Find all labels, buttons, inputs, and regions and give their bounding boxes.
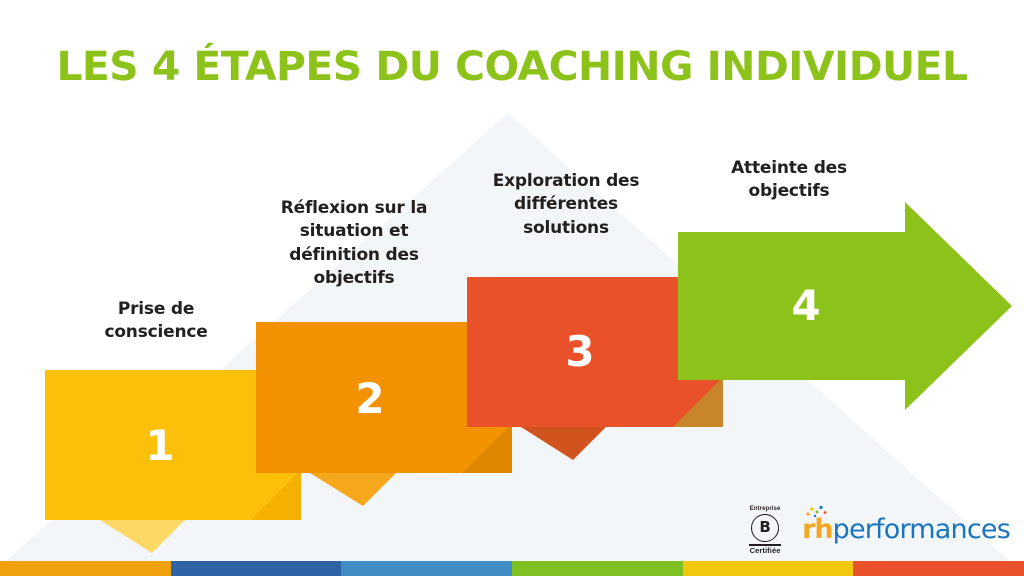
- step-1-label: Prise de conscience: [72, 298, 240, 345]
- rh-word: performances: [833, 516, 1010, 543]
- bcorp-bottom-text: Certifiée: [750, 547, 781, 555]
- bcorp-b-icon: B: [751, 514, 779, 542]
- step-4-label: Atteinte des objectifs: [700, 157, 878, 204]
- step-2-label-line-2: situation et: [260, 220, 448, 243]
- step-2-number: 2: [328, 378, 412, 420]
- infographic-canvas: LES 4 ÉTAPES DU COACHING INDIVIDUEL Pris…: [0, 0, 1024, 576]
- step-3-label-line-1: Exploration des: [470, 170, 662, 193]
- footer-color-bar: [0, 561, 1024, 576]
- step-2-label-line-3: définition des: [260, 244, 448, 267]
- step-1-label-line-1: Prise de: [72, 298, 240, 321]
- rh-sparkle-icon: [804, 505, 834, 519]
- step-3-label: Exploration des différentes solutions: [470, 170, 662, 240]
- step-2-label: Réflexion sur la situation et définition…: [260, 197, 448, 291]
- footer-bar-segment-6: [853, 561, 1024, 576]
- bcorp-logo: Entreprise B Certifiée: [742, 506, 788, 554]
- footer-bar-segment-2: [171, 561, 342, 576]
- step-4-number: 4: [764, 285, 848, 327]
- rh-performances-logo: rh performances: [802, 516, 1010, 543]
- footer-bar-segment-3: [341, 561, 512, 576]
- step-2-label-line-4: objectifs: [260, 267, 448, 290]
- step-2-label-line-1: Réflexion sur la: [260, 197, 448, 220]
- footer-bar-segment-4: [512, 561, 683, 576]
- page-title: LES 4 ÉTAPES DU COACHING INDIVIDUEL: [0, 44, 1024, 90]
- step-3-label-line-3: solutions: [470, 217, 662, 240]
- footer-bar-segment-1: [0, 561, 171, 576]
- step-3-label-line-2: différentes: [470, 193, 662, 216]
- footer-bar-segment-5: [683, 561, 854, 576]
- step-1-label-line-2: conscience: [72, 321, 240, 344]
- step-4-label-line-2: objectifs: [700, 180, 878, 203]
- bcorp-top-text: Entreprise: [750, 506, 781, 512]
- rh-mark: rh: [802, 516, 833, 543]
- step-4-label-line-1: Atteinte des: [700, 157, 878, 180]
- logo-group: Entreprise B Certifiée rh performances: [742, 506, 1010, 554]
- step-1-number: 1: [118, 425, 202, 467]
- step-3-number: 3: [538, 331, 622, 373]
